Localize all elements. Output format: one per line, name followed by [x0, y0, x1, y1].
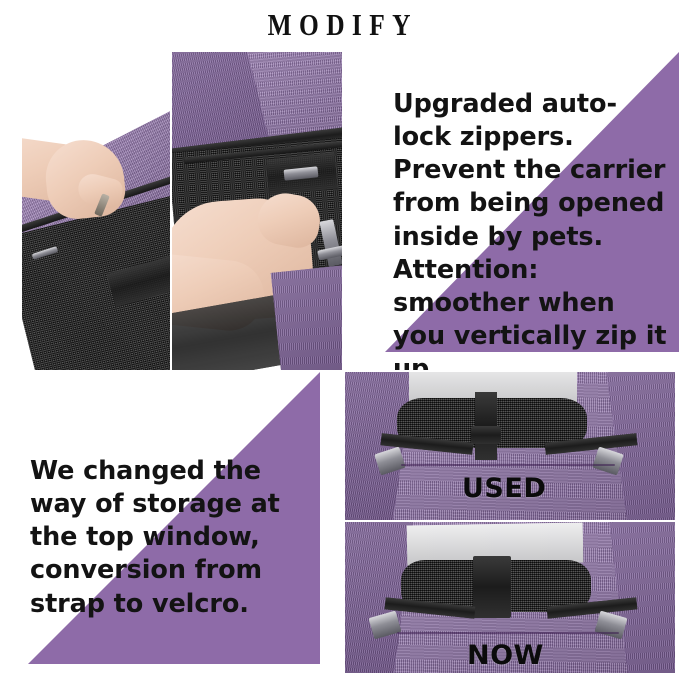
comparison-photo-now: NOW [345, 522, 675, 673]
storage-copy-panel: We changed the way of storage at the top… [0, 372, 340, 673]
zipper-photo-left [22, 52, 170, 370]
top-window-comparison-photos: USED NOW [345, 372, 675, 673]
infographic-poster: MODIFY [0, 0, 679, 673]
zipper-copy-text: Upgraded auto-lock zippers. Prevent the … [393, 88, 673, 370]
storage-copy-text: We changed the way of storage at the top… [30, 455, 322, 621]
strap-buckle [471, 426, 501, 444]
zipper-demo-photos [22, 52, 342, 370]
comparison-photo-used: USED [345, 372, 675, 520]
zipper-photo-right [172, 52, 342, 370]
poster-title-text: MODIFY [261, 9, 419, 40]
velcro-band [473, 556, 511, 618]
pocket-seam [401, 464, 615, 466]
label-now: NOW [467, 640, 544, 671]
poster-title: MODIFY [0, 4, 679, 44]
label-used: USED [462, 473, 546, 504]
zipper-copy-panel: Upgraded auto-lock zippers. Prevent the … [345, 52, 679, 370]
carrier-lower-fabric [271, 264, 342, 370]
pocket-seam [397, 632, 619, 634]
